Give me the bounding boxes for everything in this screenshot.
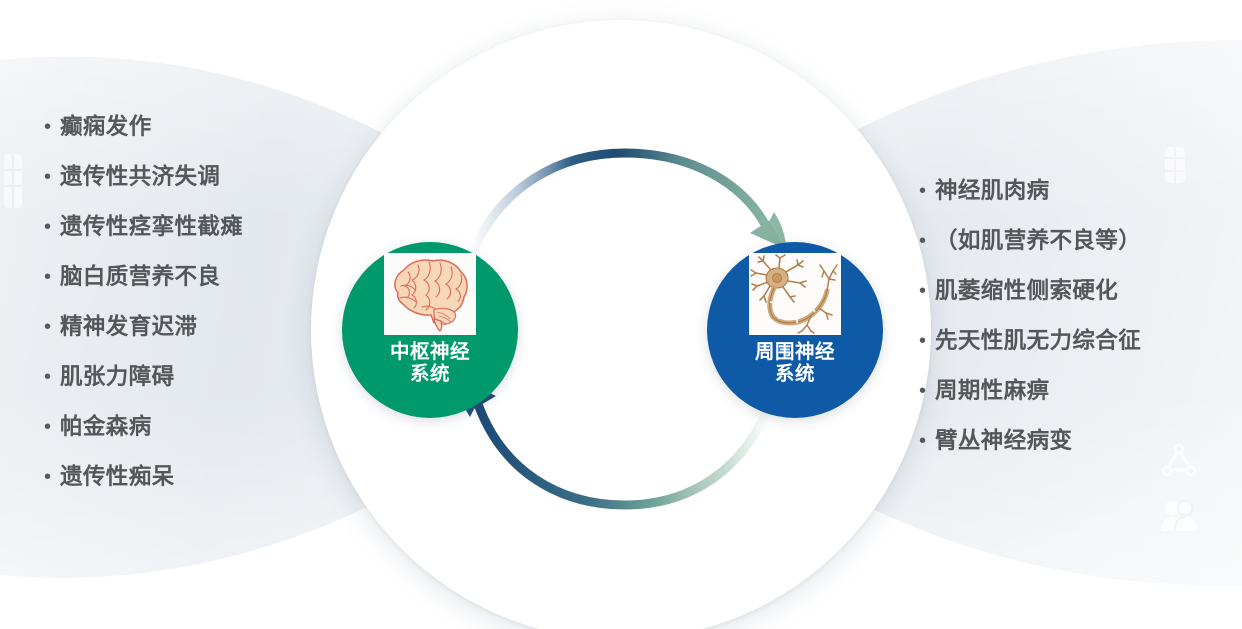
list-item: • 遗传性共济失调: [30, 162, 360, 212]
list-item: • 精神发育迟滞: [30, 312, 360, 362]
list-item-label: 精神发育迟滞: [60, 312, 197, 342]
cns-disease-list: • 癫痫发作 • 遗传性共济失调 • 遗传性痉挛性截瘫 • 脑白质营养不良 • …: [30, 112, 360, 512]
list-item-label: 肌萎缩性侧索硬化: [935, 276, 1118, 306]
list-item-label: 神经肌肉病: [935, 176, 1050, 206]
list-item: • 先天性肌无力综合征: [905, 326, 1235, 376]
list-item-label: 臂丛神经病变: [935, 426, 1072, 456]
bullet-icon: •: [905, 326, 935, 356]
list-item: • 神经肌肉病: [905, 176, 1235, 226]
bullet-icon: •: [30, 262, 60, 292]
list-item: • 癫痫发作: [30, 112, 360, 162]
bullet-icon: •: [905, 226, 935, 256]
brain-image: [384, 253, 476, 335]
neuron-icon: [749, 253, 841, 335]
list-item-label: 脑白质营养不良: [60, 262, 220, 292]
bullet-icon: •: [905, 276, 935, 306]
list-item: • 帕金森病: [30, 412, 360, 462]
bullet-icon: •: [30, 212, 60, 242]
node-peripheral-nervous-system[interactable]: 周围神经 系统: [707, 242, 883, 418]
node-cns-label-line2: 系统: [370, 363, 490, 385]
node-pns-label: 周围神经 系统: [735, 341, 855, 385]
brain-icon: [384, 253, 476, 335]
list-item: • 遗传性痉挛性截瘫: [30, 212, 360, 262]
list-item: • 脑白质营养不良: [30, 262, 360, 312]
list-item: • （如肌营养不良等）: [905, 226, 1235, 276]
node-cns-label-line1: 中枢神经: [370, 341, 490, 363]
list-item: • 臂丛神经病变: [905, 426, 1235, 476]
diagram-canvas: 中枢神经 系统: [0, 0, 1242, 629]
list-item: • 肌萎缩性侧索硬化: [905, 276, 1235, 326]
node-cns-label: 中枢神经 系统: [370, 341, 490, 385]
list-item-label: 遗传性痴呆: [60, 462, 175, 492]
node-pns-label-line1: 周围神经: [735, 341, 855, 363]
pns-disease-list: • 神经肌肉病 • （如肌营养不良等） • 肌萎缩性侧索硬化 • 先天性肌无力综…: [905, 176, 1235, 476]
bullet-icon: •: [30, 462, 60, 492]
bullet-icon: •: [905, 426, 935, 456]
list-item: • 遗传性痴呆: [30, 462, 360, 512]
bullet-icon: •: [30, 412, 60, 442]
list-item-label: 肌张力障碍: [60, 362, 175, 392]
list-item: • 肌张力障碍: [30, 362, 360, 412]
cns-to-pns-arrow: [471, 153, 786, 255]
node-pns-label-line2: 系统: [735, 363, 855, 385]
bullet-icon: •: [30, 312, 60, 342]
bullet-icon: •: [30, 162, 60, 192]
list-item: • 周期性麻痹: [905, 376, 1235, 426]
list-item-label: 先天性肌无力综合征: [935, 326, 1141, 356]
bullet-icon: •: [905, 376, 935, 406]
pns-to-cns-arrow: [458, 377, 770, 505]
list-item-label: 遗传性共济失调: [60, 162, 220, 192]
list-item-label: 帕金森病: [60, 412, 152, 442]
list-item-label: （如肌营养不良等）: [935, 226, 1141, 256]
list-item-label: 遗传性痉挛性截瘫: [60, 212, 243, 242]
neuron-image: [749, 253, 841, 335]
list-item-label: 癫痫发作: [60, 112, 152, 142]
list-item-label: 周期性麻痹: [935, 376, 1050, 406]
bullet-icon: •: [30, 362, 60, 392]
bullet-icon: •: [30, 112, 60, 142]
bullet-icon: •: [905, 176, 935, 206]
node-central-nervous-system[interactable]: 中枢神经 系统: [342, 242, 518, 418]
